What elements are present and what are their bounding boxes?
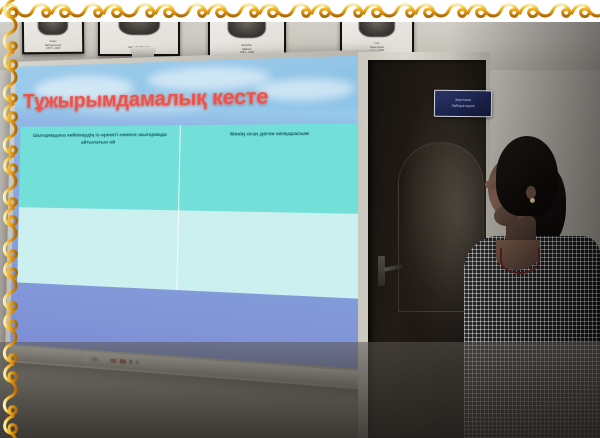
slide-table: Шығармадағы кейіпкердің іс-әрекеті немес…	[18, 123, 363, 298]
table-cell	[18, 207, 180, 289]
portrait-image	[359, 11, 395, 37]
wall-portrait-frame: Бейімбет Майлин 1894 - 1938	[208, 6, 286, 58]
table-cell: Менің оған деген көзқарасым	[180, 123, 363, 214]
floor-shadow	[0, 342, 600, 438]
whiteboard-bezel: Тұжырымдамалық кесте Шығармадағы кейіпке…	[5, 49, 380, 390]
table-cell: Шығармадағы кейіпкердің іс-әрекеті немес…	[19, 125, 181, 211]
table-cell	[178, 211, 360, 299]
table-row: Шығармадағы кейіпкердің іс-әрекеті немес…	[19, 123, 362, 214]
portrait-image	[228, 11, 266, 38]
table-row	[18, 207, 361, 298]
whiteboard-surface[interactable]: Тұжырымдамалық кесте Шығармадағы кейіпке…	[10, 55, 372, 369]
projected-slide: Тұжырымдамалық кесте Шығармадағы кейіпке…	[10, 55, 372, 369]
portrait-image	[119, 8, 160, 35]
wall-portrait-frame: Ахмет Байтұрсынов 1873 - 1938	[22, 6, 84, 55]
portrait-caption: Ахмет Байтұрсынов 1873 - 1938	[26, 40, 79, 52]
interactive-whiteboard[interactable]: Тұжырымдамалық кесте Шығармадағы кейіпке…	[5, 49, 380, 390]
portrait-image	[38, 10, 68, 35]
photograph: Ахмет Байтұрсынов 1873 - 1938 Сәкен Сейф…	[0, 0, 600, 438]
